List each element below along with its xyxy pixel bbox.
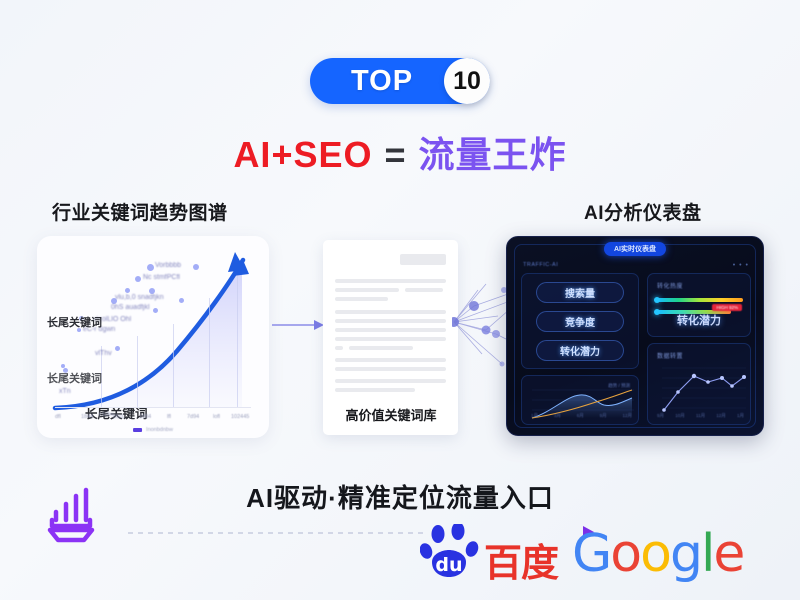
gauge-bar-primary [657,298,743,302]
axis-tick-label: 9月 [600,413,607,419]
top-badge-number: 10 [444,58,490,104]
baidu-du-text: du [435,554,462,576]
doc-text-line [335,319,446,323]
document-label: 高价值关键词库 [330,405,452,424]
chart-x-axis [55,407,251,408]
metric-pill-search-volume[interactable]: 搜索量 [536,282,624,303]
chart-blur-word: vlThv [95,350,112,357]
chart-blur-word: 0hS auadfjkl [111,304,150,311]
dashed-connector-line [128,532,428,534]
scatter-dot [193,264,199,270]
bottom-tagline: AI驱动·精准定位流量入口 [0,478,800,515]
axis-tick-label: 1884 [139,414,151,420]
headline-part-ai-seo: AI+SEO [233,134,372,175]
axis-tick-label: 12月 [716,413,726,419]
google-letter-o2: o [640,524,670,584]
chart-tick-line [137,336,138,408]
ai-dashboard-card: AI实时仪表盘 TRAFFIC-AI • • • 搜索量 竞争度 转化潜力 趋势… [506,236,764,436]
doc-text-line [405,288,443,292]
long-tail-keyword-label: 长尾关键词 [47,370,102,386]
metric-pill-conversion[interactable]: 转化潜力 [536,340,624,361]
chart-x-label: t 53lm [99,412,114,418]
chart-tick-line [209,298,210,408]
headline-equals: = [385,134,407,175]
doc-text-line [335,328,446,332]
chart-blur-word: vlu,b,0 snadfjkn [115,294,164,301]
flow-arrow-icon [272,318,324,332]
chart-blur-word: xTn [59,388,71,395]
scatter-dot [135,276,141,282]
legend-label: Inonbdnbw [146,427,173,433]
gauge-overlay-label: 转化潜力 [648,312,750,328]
area-chart-x-axis: 1月 3月 6月 9月 12月 [531,413,632,419]
section-title-right: AI分析仪表盘 [584,198,702,225]
legend-swatch [133,428,142,432]
google-letter-l: l [701,524,713,584]
chart-tick-line [237,276,238,408]
top-rank-badge: TOP 10 [310,58,490,104]
dashboard-title-badge: AI实时仪表盘 [604,242,666,256]
google-logo[interactable]: Google [572,524,743,584]
dashboard-area-chart-panel: 趋势 / 预测 1月 3月 6月 9月 12月 [521,375,639,425]
scatter-dot [179,298,184,303]
top-badge-label: TOP [310,65,444,98]
keyword-trend-chart: Vorbbbb Nc stmfPCfl vlu,b,0 snadfjkn 0hS… [37,236,269,438]
headline: AI+SEO=流量王炸 [0,126,800,178]
axis-tick-label: 1月 [737,413,744,419]
scatter-dot [147,264,154,271]
dashboard-line-chart-panel: 数据转置 9月 10月 11月 12 [647,343,751,425]
axis-tick-label: 1月 [531,413,538,419]
scatter-dot [61,364,65,368]
doc-text-line [335,288,399,292]
long-tail-keyword-label: 长尾关键词 [47,314,102,330]
headline-part-traffic: 流量王炸 [419,134,567,175]
dashboard-menu-icon[interactable]: • • • [733,262,749,269]
doc-text-line [335,388,415,392]
axis-tick-label: dfl [55,414,61,420]
doc-text-line [335,310,446,314]
metric-pill-competition[interactable]: 竞争度 [536,311,624,332]
axis-tick-label: lofl [213,414,220,420]
axis-tick-label: 12月 [622,413,632,419]
doc-text-line [335,358,446,362]
gauge-panel-title: 转化热度 [657,281,683,290]
axis-tick-label: 3月 [554,413,561,419]
axis-tick-label: 7d94 [187,414,199,420]
dashboard-brand-label: TRAFFIC-AI [523,262,558,268]
gauge-status-badge: HIGH 92% [712,304,742,311]
doc-text-line [335,379,446,383]
doc-text-line [335,337,446,341]
chart-blur-word: Nc stmfPCfl [143,274,180,281]
axis-tick-label: 1844 [81,414,93,420]
axis-tick-label: 102445 [231,414,249,420]
doc-header-placeholder [400,254,446,265]
axis-tick-label: lfl [167,414,171,420]
gauge-handle-icon[interactable] [654,297,660,303]
chart-tick-line [173,324,174,408]
chart-legend: Inonbdnbw [133,427,173,433]
axis-tick-label: 05cL [113,414,125,420]
doc-bullet [335,346,343,350]
scatter-dot [115,346,120,351]
section-title-left: 行业关键词趋势图谱 [52,198,228,225]
scatter-dot [153,308,158,313]
keyword-trend-card: Vorbbbb Nc stmfPCfl vlu,b,0 snadfjkn 0hS… [37,236,269,438]
dashboard-gauge-panel: 转化热度 HIGH 92% 转化潜力 [647,273,751,337]
dashboard-metrics-panel: 搜索量 竞争度 转化潜力 [521,273,639,369]
doc-text-line [335,279,446,283]
axis-tick-label: 10月 [675,413,685,419]
line-chart-x-axis: 9月 10月 11月 12月 1月 [657,413,744,419]
doc-text-line [335,297,388,301]
chart-blur-word: Vorbbbb [155,262,181,269]
doc-text-row [335,288,446,292]
scatter-dot [125,288,130,293]
bar-chart-pedestal-icon [44,482,110,548]
axis-tick-label: 9月 [657,413,664,419]
axis-tick-label: 6月 [577,413,584,419]
doc-text-line [349,346,413,350]
doc-text-line [335,367,446,371]
google-letter-e: e [713,524,743,584]
doc-text-row [335,346,446,350]
google-letter-o1: o [610,524,640,584]
google-letter-g2: g [670,524,701,584]
google-letter-g: G [572,524,610,584]
axis-tick-label: 11月 [696,413,705,419]
baidu-wordmark[interactable]: 百度 [484,532,558,587]
